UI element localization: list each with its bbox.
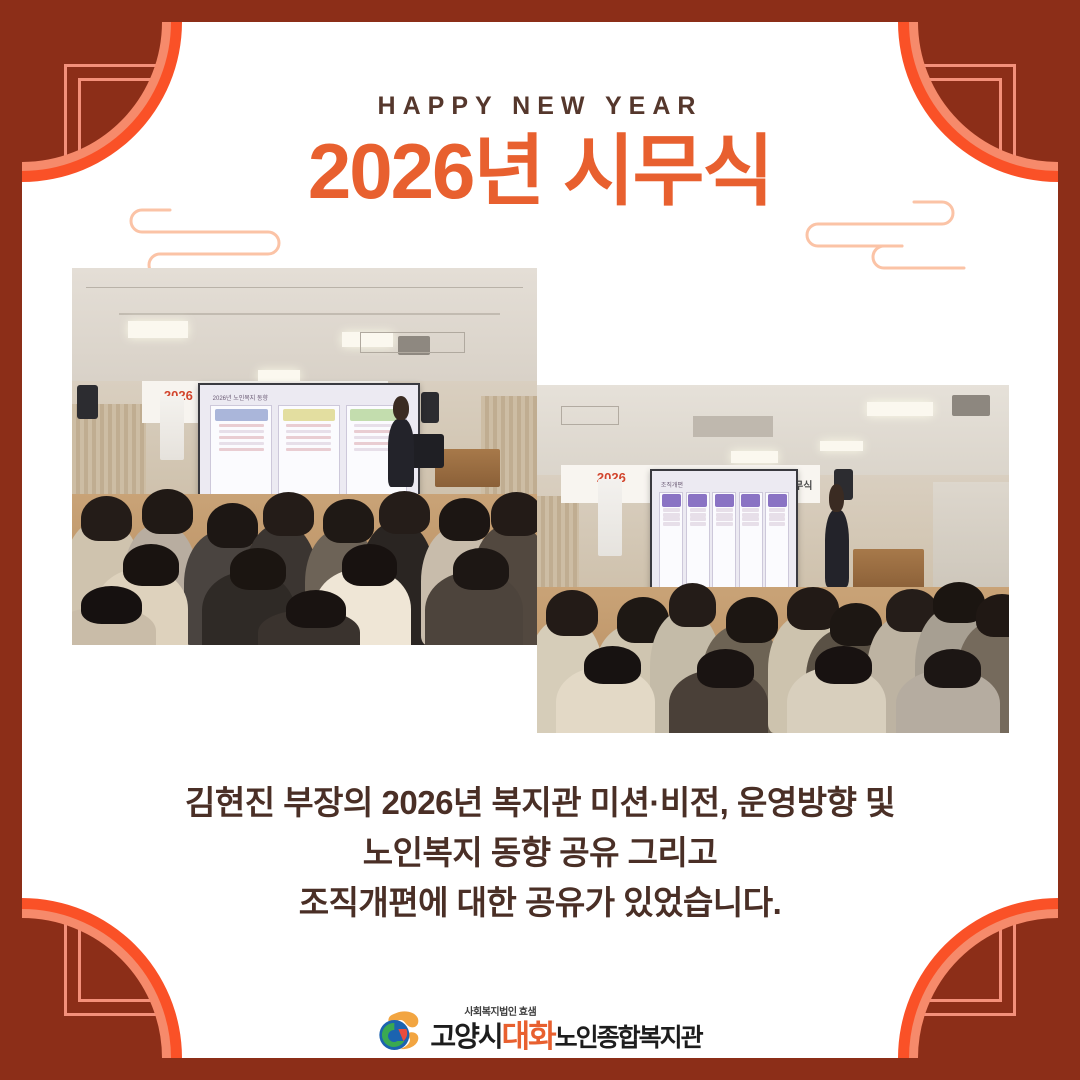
poster-card: HAPPY NEW YEAR 2026년 시무식 bbox=[0, 0, 1080, 1080]
page-eyebrow: HAPPY NEW YEAR bbox=[0, 92, 1080, 121]
slide-title-1: 2026년 노인복지 동향 bbox=[213, 393, 268, 402]
logo-text-lockup: 사회복지법인 효샘 고양시 대화 노인종합복지관 bbox=[430, 1008, 701, 1053]
cloud-ornament-right-icon bbox=[796, 196, 1018, 289]
organization-logo: 사회복지법인 효샘 고양시 대화 노인종합복지관 bbox=[378, 1008, 701, 1053]
logo-name-part2: 대화 bbox=[502, 1021, 555, 1052]
caption-line-3: 조직개편에 대한 공유가 있었습니다. bbox=[60, 878, 1020, 928]
logo-name-part3: 노인종합복지관 bbox=[555, 1026, 702, 1051]
caption-line-2: 노인복지 동향 공유 그리고 bbox=[60, 828, 1020, 878]
photo-presentation-org-restructure: 2026 시무식 조직개편 bbox=[537, 385, 1009, 733]
logo-emblem-icon bbox=[378, 1009, 424, 1053]
slide-title-2: 조직개편 bbox=[661, 480, 683, 489]
logo-org-prefix: 사회복지법인 효샘 bbox=[464, 1008, 701, 1018]
logo-name-part1: 고양시 bbox=[430, 1023, 501, 1051]
caption-line-1: 김현진 부장의 2026년 복지관 미션·비전, 운영방향 및 bbox=[60, 778, 1020, 828]
caption-text: 김현진 부장의 2026년 복지관 미션·비전, 운영방향 및 노인복지 동향 … bbox=[60, 778, 1020, 928]
photo-presentation-welfare-trends: 2026 시무식 2026년 노인복지 동향 bbox=[72, 268, 537, 645]
